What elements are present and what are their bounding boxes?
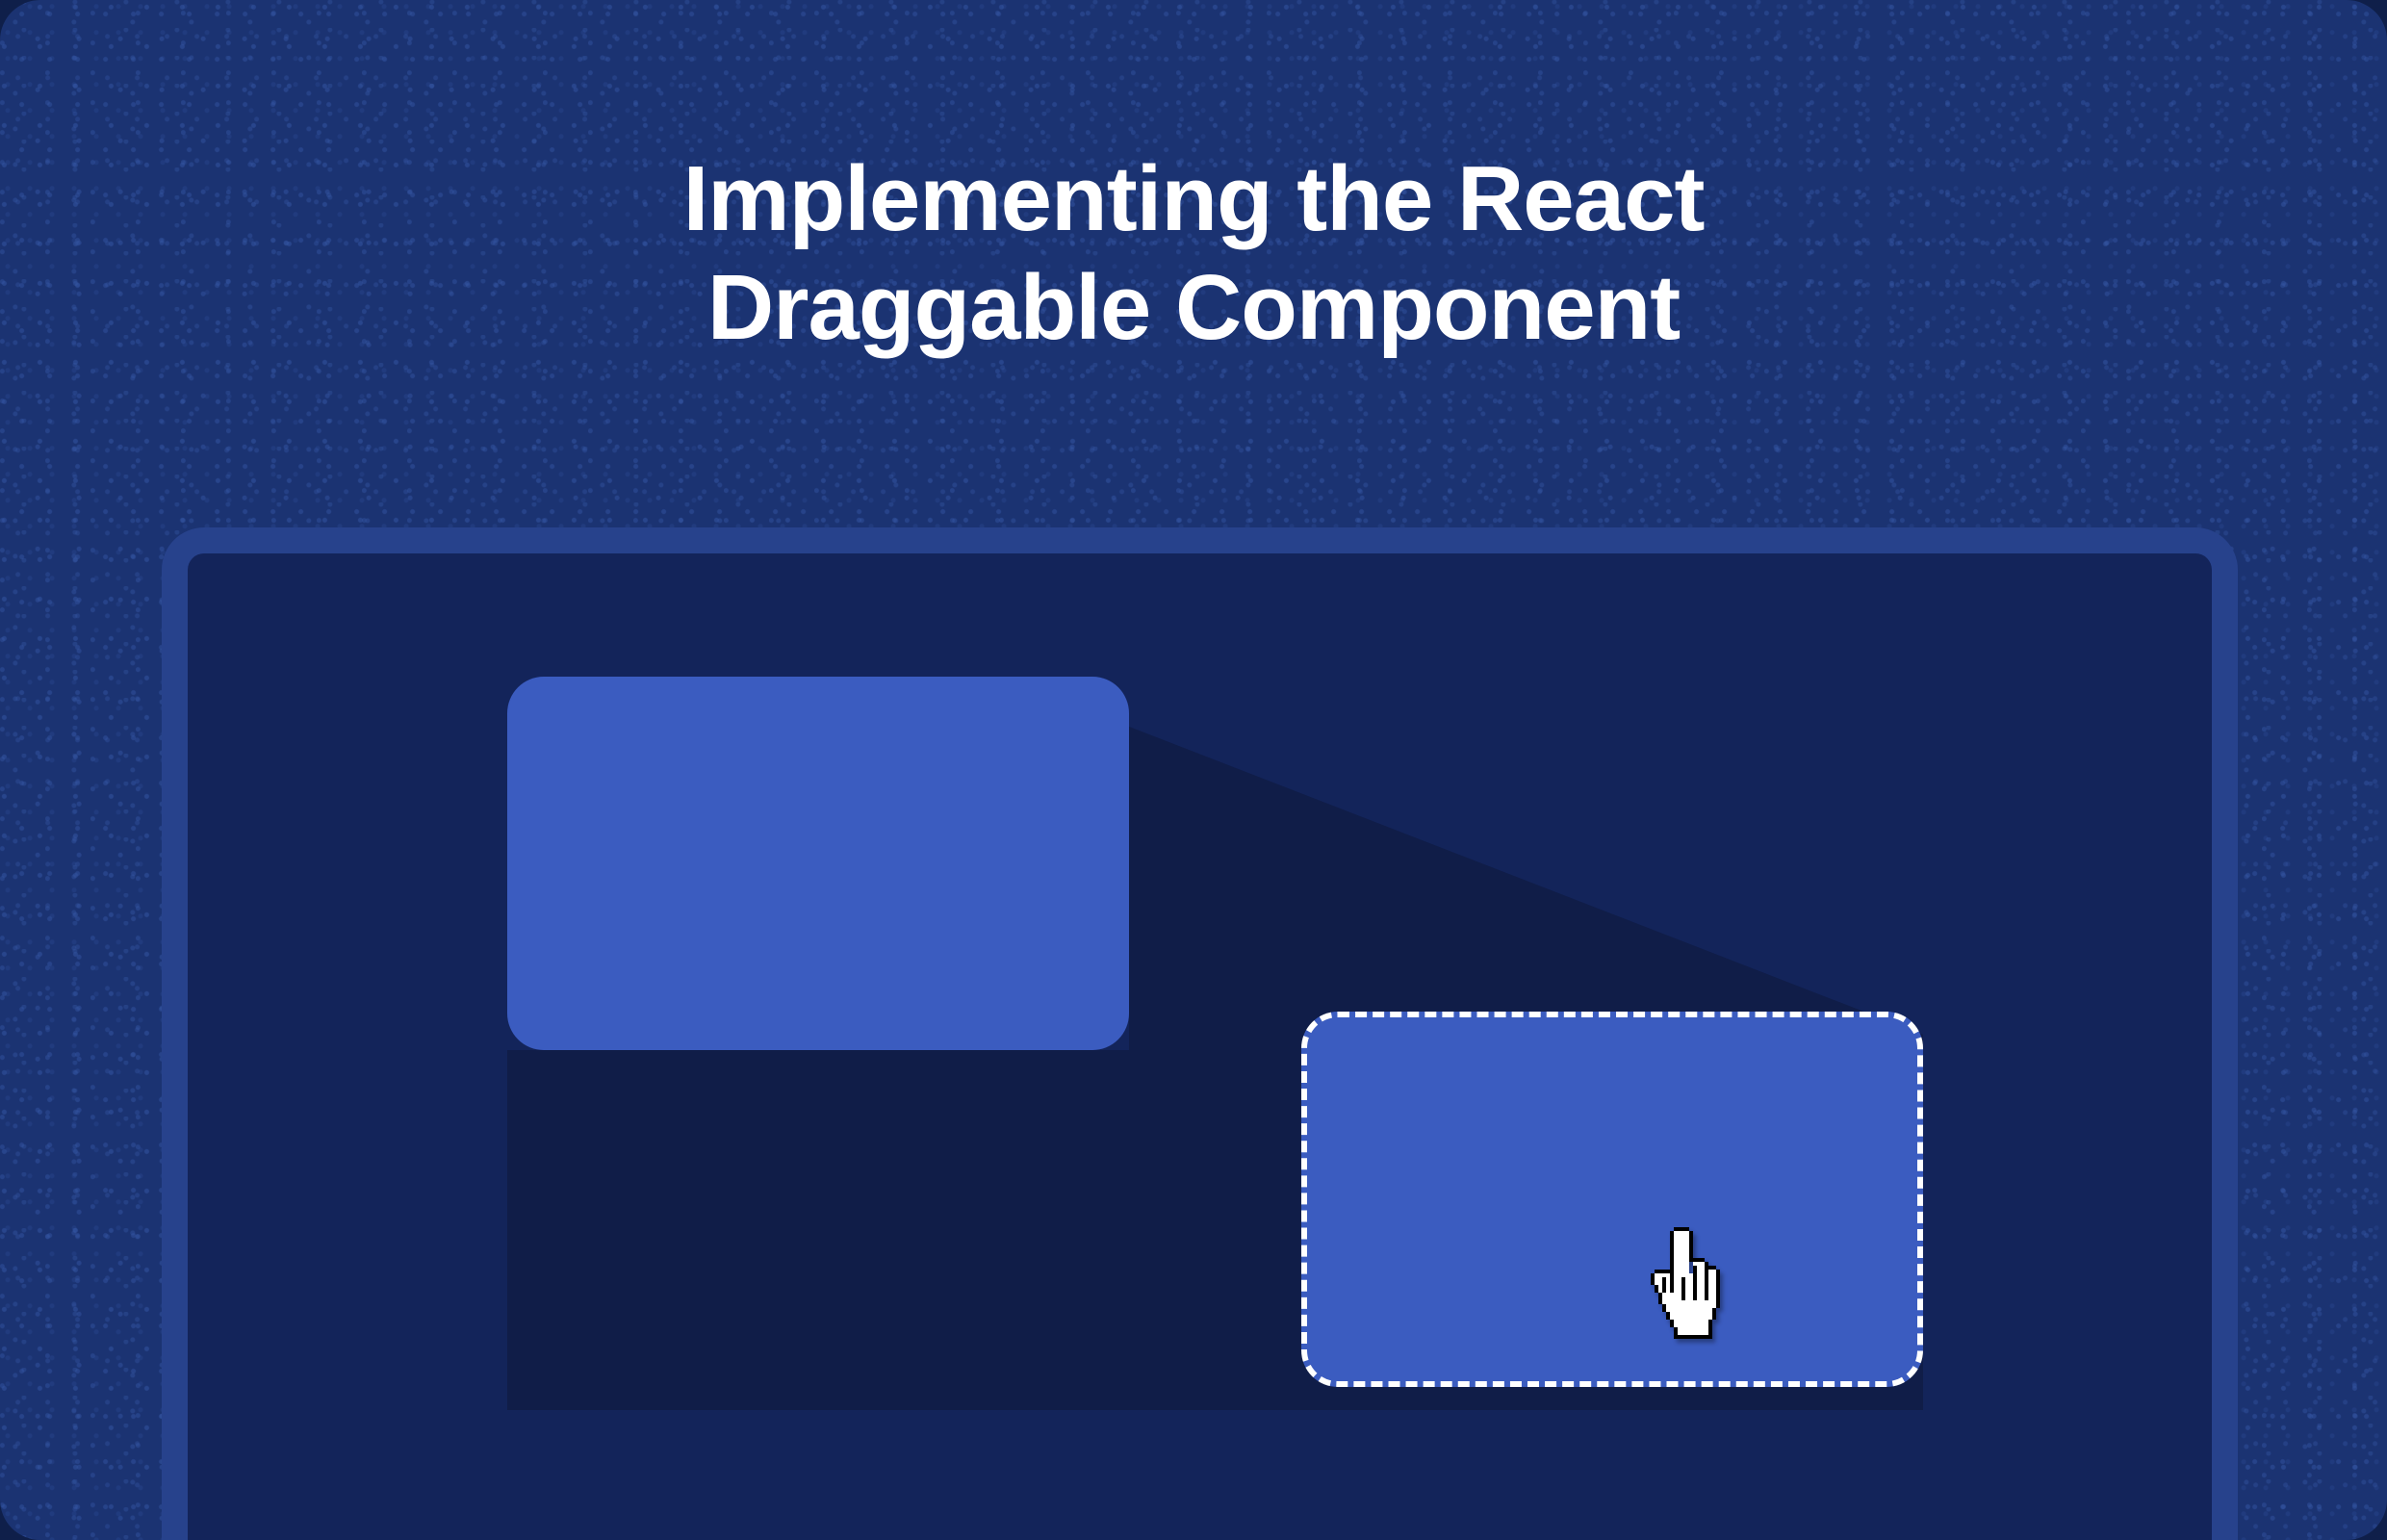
page-canvas: Implementing the React Draggable Compone… (0, 0, 2387, 1540)
pointing-hand-cursor-icon (1647, 1227, 1735, 1343)
draggable-box-origin[interactable] (507, 677, 1129, 1050)
page-title-line-1: Implementing the React (0, 144, 2387, 253)
page-title: Implementing the React Draggable Compone… (0, 144, 2387, 363)
drag-area-card (162, 527, 2238, 1540)
drag-stage[interactable] (188, 553, 2212, 1540)
page-title-line-2: Draggable Component (0, 253, 2387, 362)
draggable-box-dragging[interactable] (1301, 1012, 1923, 1387)
